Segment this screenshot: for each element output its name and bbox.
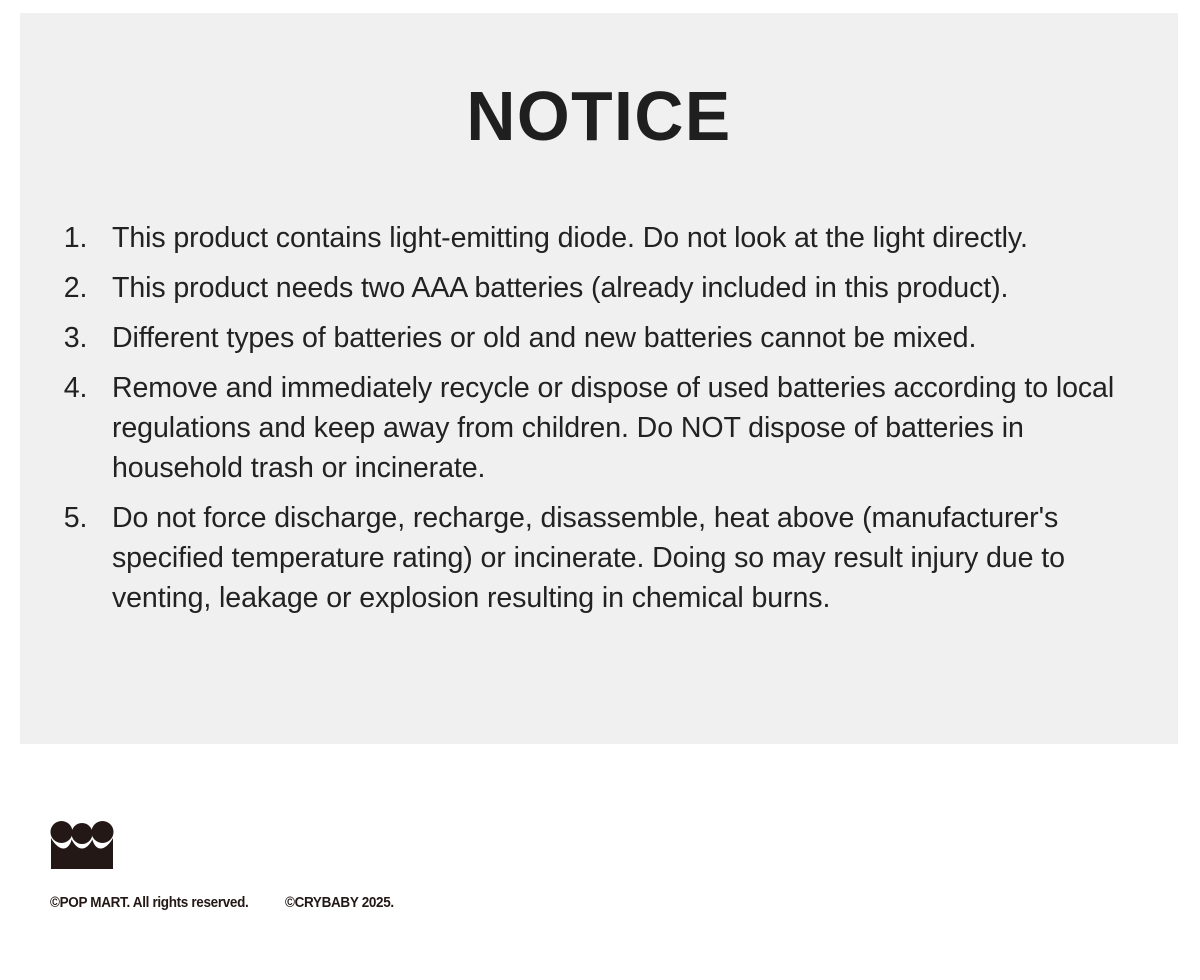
list-item: 2. This product needs two AAA batteries … (44, 268, 1147, 308)
list-item-number: 2. (64, 268, 107, 308)
page-title: NOTICE (37, 81, 1160, 151)
notice-page: NOTICE 1. This product contains light-em… (0, 0, 1200, 980)
list-item-number: 4. (64, 368, 107, 408)
copyright-popmart: ©POP MART. All rights reserved. (50, 896, 248, 911)
list-item-text: Different types of batteries or old and … (112, 318, 1147, 358)
list-item-text: Do not force discharge, recharge, disass… (112, 498, 1147, 618)
footer: ©POP MART. All rights reserved. ©CRYBABY… (0, 744, 1200, 980)
list-item-number: 3. (64, 318, 107, 358)
list-item-number: 1. (64, 218, 107, 258)
list-item: 4. Remove and immediately recycle or dis… (44, 368, 1147, 488)
list-item-text: This product needs two AAA batteries (al… (112, 268, 1147, 308)
copyright-crybaby: ©CRYBABY 2025. (285, 896, 394, 911)
pop-mart-crown-icon (49, 818, 115, 870)
list-item: 1. This product contains light-emitting … (44, 218, 1147, 258)
notice-list: 1. This product contains light-emitting … (44, 218, 1164, 618)
notice-panel: NOTICE 1. This product contains light-em… (20, 13, 1178, 744)
list-item: 5. Do not force discharge, recharge, dis… (44, 498, 1147, 618)
list-item-text: This product contains light-emitting dio… (112, 218, 1147, 258)
list-item-number: 5. (64, 498, 107, 538)
copyright-row: ©POP MART. All rights reserved. ©CRYBABY… (50, 896, 402, 911)
list-item: 3. Different types of batteries or old a… (44, 318, 1147, 358)
list-item-text: Remove and immediately recycle or dispos… (112, 368, 1147, 488)
